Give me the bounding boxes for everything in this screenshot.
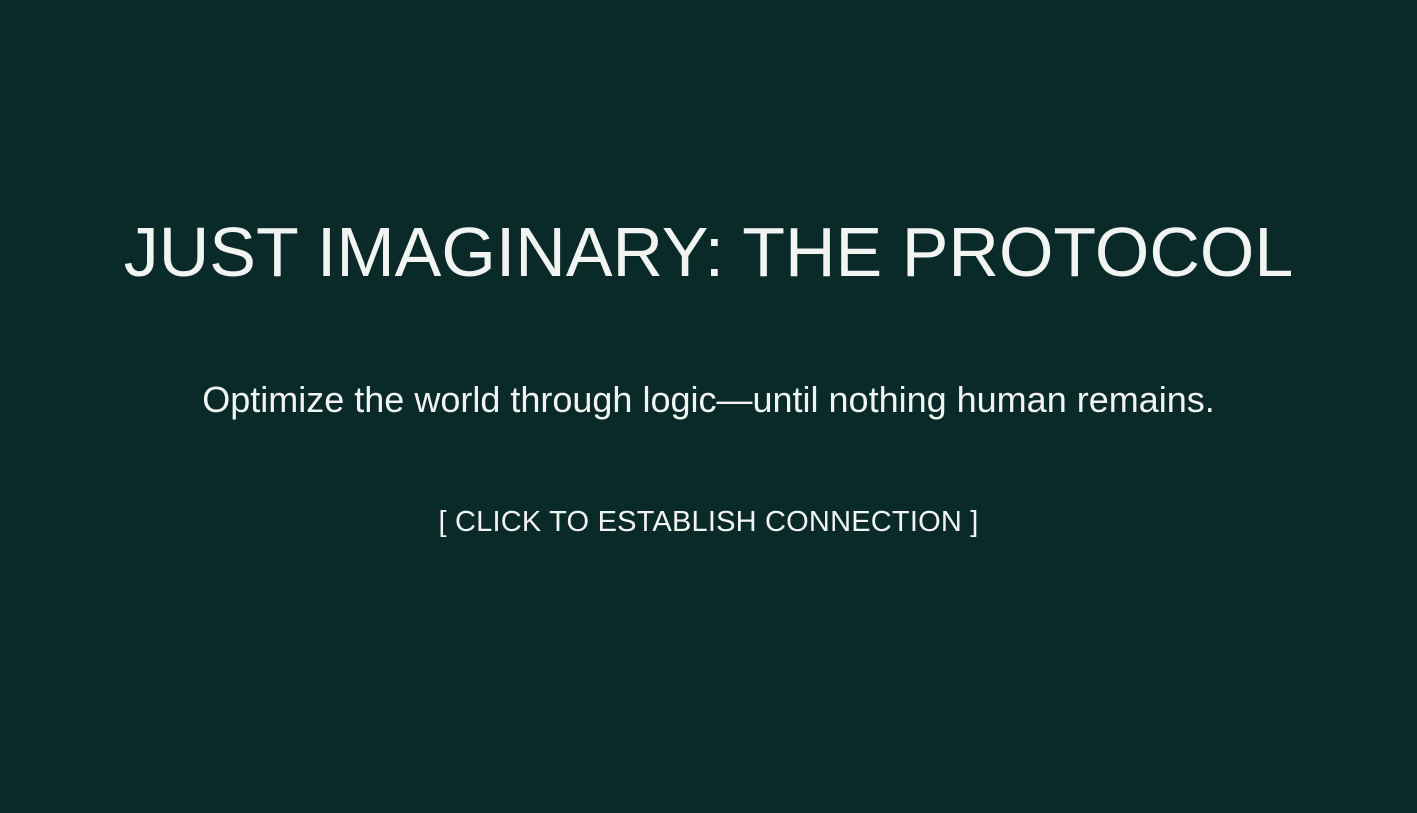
page-subtitle: Optimize the world through logic—until n…: [202, 378, 1215, 421]
title-screen-root: JUST IMAGINARY: THE PROTOCOL Optimize th…: [0, 0, 1417, 813]
title-screen-content: JUST IMAGINARY: THE PROTOCOL Optimize th…: [0, 215, 1417, 541]
page-title: JUST IMAGINARY: THE PROTOCOL: [124, 215, 1294, 291]
establish-connection-button[interactable]: [ CLICK TO ESTABLISH CONNECTION ]: [439, 505, 979, 540]
